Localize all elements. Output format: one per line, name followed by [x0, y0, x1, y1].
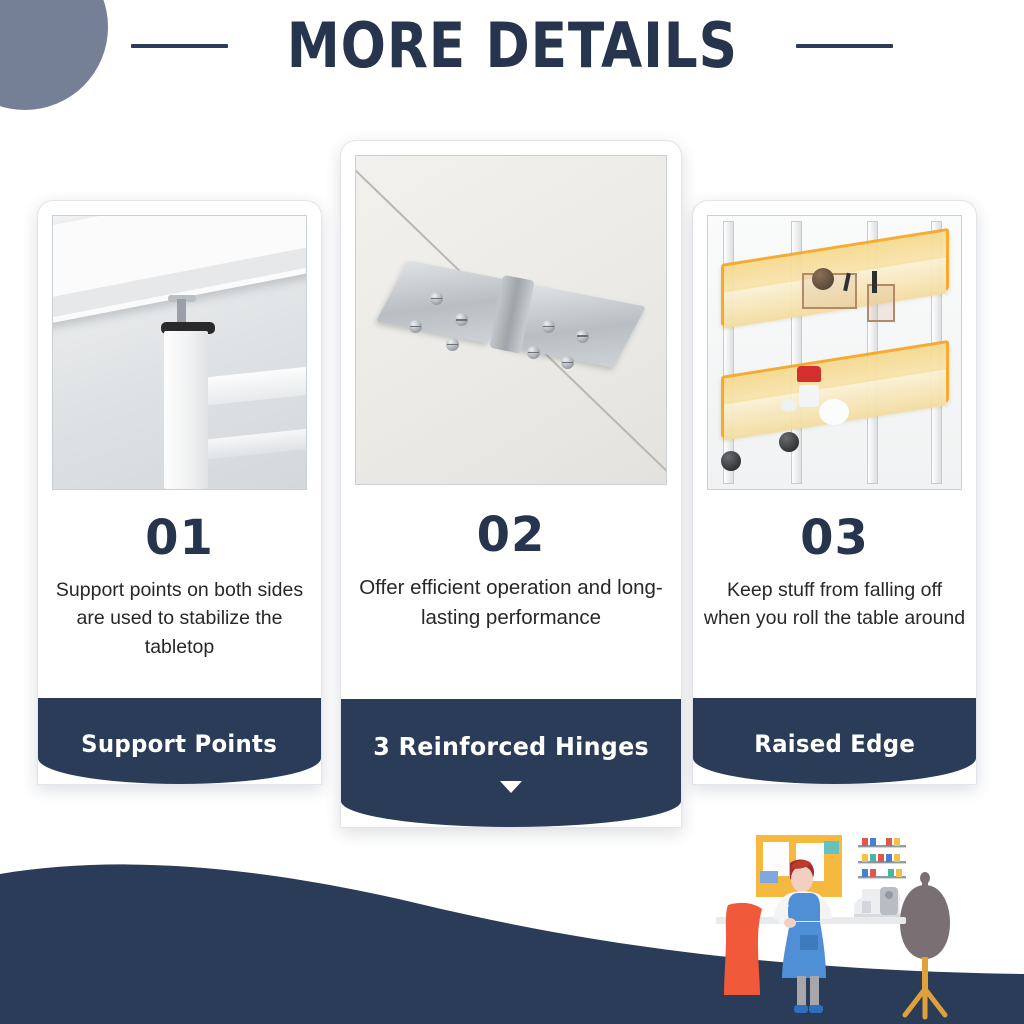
detail-card-2[interactable]: 02 Offer efficient operation and long-la… — [340, 140, 682, 828]
chevron-down-icon[interactable] — [500, 781, 522, 793]
card-2-footer: 3 Reinforced Hinges — [341, 699, 681, 827]
sewing-machine-icon — [854, 887, 902, 922]
card-3-description: Keep stuff from falling off when you rol… — [693, 566, 976, 633]
card-1-footer-label: Support Points — [82, 730, 278, 758]
card-3-photo — [707, 215, 962, 490]
card-2-photo — [355, 155, 667, 485]
page-title: MORE DETAILS — [286, 14, 737, 78]
card-2-photo-wrap — [341, 141, 681, 485]
card-1-photo-wrap — [38, 201, 321, 490]
dress-form-mannequin-icon — [900, 872, 950, 1017]
red-fabric-icon — [724, 903, 762, 995]
infographic-page: MORE DETAILS 01 Support points on both s… — [0, 0, 1024, 1024]
header-dash-left — [131, 44, 228, 48]
card-3-footer: Raised Edge — [693, 698, 976, 784]
card-3-footer-label: Raised Edge — [754, 730, 915, 758]
detail-card-3[interactable]: 03 Keep stuff from falling off when you … — [692, 200, 977, 785]
card-1-description: Support points on both sides are used to… — [38, 566, 321, 661]
detail-card-1[interactable]: 01 Support points on both sides are used… — [37, 200, 322, 785]
card-1-footer: Support Points — [38, 698, 321, 784]
sewing-room-illustration — [686, 823, 1024, 1024]
card-2-number: 02 — [341, 507, 681, 563]
thread-spool-rack-icon — [858, 838, 906, 878]
header-dash-right — [796, 44, 893, 48]
card-3-photo-wrap — [693, 201, 976, 490]
card-3-number: 03 — [693, 510, 976, 566]
card-2-description: Offer efficient operation and long-lasti… — [341, 563, 681, 632]
card-1-photo — [52, 215, 307, 490]
page-header: MORE DETAILS — [0, 14, 1024, 78]
card-1-number: 01 — [38, 510, 321, 566]
card-2-footer-label: 3 Reinforced Hinges — [373, 732, 649, 761]
